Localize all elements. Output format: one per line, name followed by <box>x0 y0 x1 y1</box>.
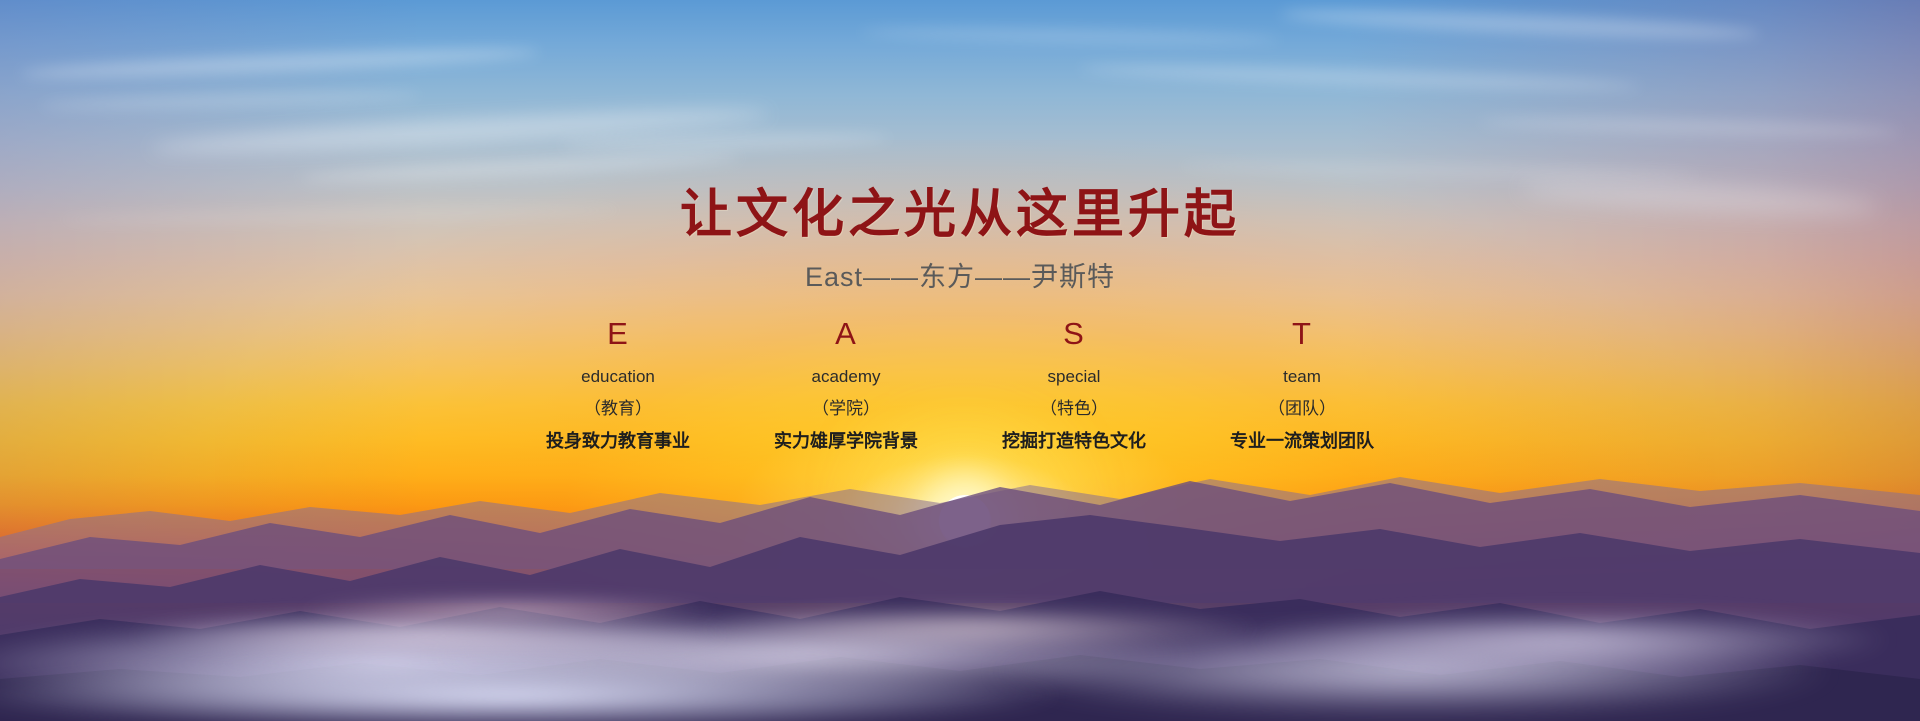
acronym-chinese: （教育） <box>504 400 732 420</box>
acronym-english: special <box>960 368 1188 388</box>
acronym-column-team: T team （团队） 专业一流策划团队 <box>1188 318 1416 450</box>
acronym-description: 挖掘打造特色文化 <box>960 432 1188 450</box>
acronym-letter: E <box>504 318 732 352</box>
acronym-column-academy: A academy （学院） 实力雄厚学院背景 <box>732 318 960 450</box>
banner-headline: 让文化之光从这里升起 <box>0 172 1920 247</box>
acronym-letter: S <box>960 318 1188 352</box>
banner-text-overlay: 让文化之光从这里升起 East——东方——尹斯特 E education （教育… <box>0 0 1920 721</box>
acronym-chinese: （学院） <box>732 400 960 420</box>
east-acronym-columns: E education （教育） 投身致力教育事业 A academy （学院）… <box>0 318 1920 450</box>
acronym-english: team <box>1188 368 1416 388</box>
acronym-letter: T <box>1188 318 1416 352</box>
acronym-english: education <box>504 368 732 388</box>
acronym-letter: A <box>732 318 960 352</box>
acronym-column-education: E education （教育） 投身致力教育事业 <box>504 318 732 450</box>
hero-banner: 让文化之光从这里升起 East——东方——尹斯特 E education （教育… <box>0 0 1920 721</box>
banner-subtitle: East——东方——尹斯特 <box>0 255 1920 294</box>
acronym-english: academy <box>732 368 960 388</box>
acronym-column-special: S special （特色） 挖掘打造特色文化 <box>960 318 1188 450</box>
acronym-description: 专业一流策划团队 <box>1188 432 1416 450</box>
acronym-description: 实力雄厚学院背景 <box>732 432 960 450</box>
acronym-chinese: （特色） <box>960 400 1188 420</box>
acronym-chinese: （团队） <box>1188 400 1416 420</box>
acronym-description: 投身致力教育事业 <box>504 432 732 450</box>
